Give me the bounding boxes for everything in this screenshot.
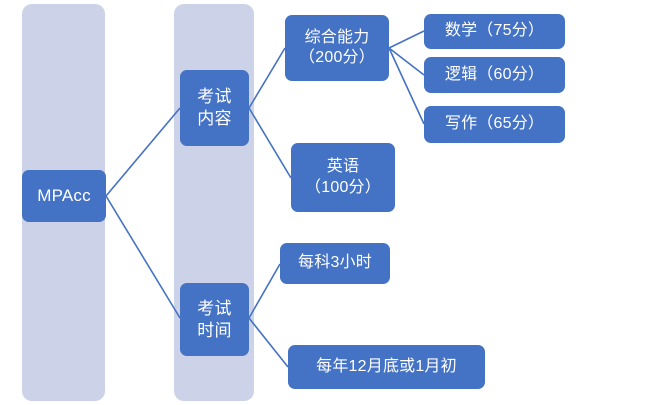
edge-time-to-month	[249, 318, 288, 367]
edge-content-to-english	[249, 108, 291, 178]
edge-time-to-hours	[249, 264, 280, 318]
node-exam-content-line1: 考试	[197, 86, 231, 108]
node-exam-time-line1: 考试	[197, 298, 231, 320]
node-logic-label: 逻辑（60分）	[445, 65, 544, 85]
node-root-mpacc[interactable]: MPAcc	[22, 170, 106, 222]
node-exam-time[interactable]: 考试 时间	[180, 283, 249, 356]
node-root-label: MPAcc	[37, 185, 91, 207]
edge-root-to-exam-content	[106, 108, 180, 196]
node-writing[interactable]: 写作（65分）	[424, 106, 565, 143]
node-exam-month[interactable]: 每年12月底或1月初	[288, 345, 485, 389]
node-comprehensive-ability[interactable]: 综合能力 （200分）	[285, 15, 389, 81]
node-exam-month-label: 每年12月底或1月初	[316, 357, 457, 377]
node-exam-content[interactable]: 考试 内容	[180, 70, 249, 146]
edge-content-to-comprehensive	[249, 48, 285, 108]
diagram-canvas: MPAcc 考试 内容 考试 时间 综合能力 （200分） 英语 （100分） …	[0, 0, 645, 405]
node-writing-label: 写作（65分）	[445, 114, 544, 134]
node-english-line2: （100分）	[305, 178, 381, 198]
node-comprehensive-line2: （200分）	[299, 48, 375, 68]
node-logic[interactable]: 逻辑（60分）	[424, 57, 565, 93]
node-math-label: 数学（75分）	[445, 21, 544, 41]
node-comprehensive-line1: 综合能力	[305, 28, 370, 48]
edge-comprehensive-to-math	[389, 31, 424, 48]
node-hours-per-subject[interactable]: 每科3小时	[280, 243, 390, 284]
node-english[interactable]: 英语 （100分）	[291, 143, 395, 212]
node-exam-content-line2: 内容	[197, 108, 231, 130]
node-exam-time-line2: 时间	[197, 320, 231, 342]
node-english-line1: 英语	[327, 157, 359, 177]
edge-root-to-exam-time	[106, 196, 180, 318]
node-hours-label: 每科3小时	[298, 253, 372, 273]
edge-comprehensive-to-writing	[389, 48, 424, 124]
node-math[interactable]: 数学（75分）	[424, 14, 565, 49]
edge-comprehensive-to-logic	[389, 48, 424, 75]
